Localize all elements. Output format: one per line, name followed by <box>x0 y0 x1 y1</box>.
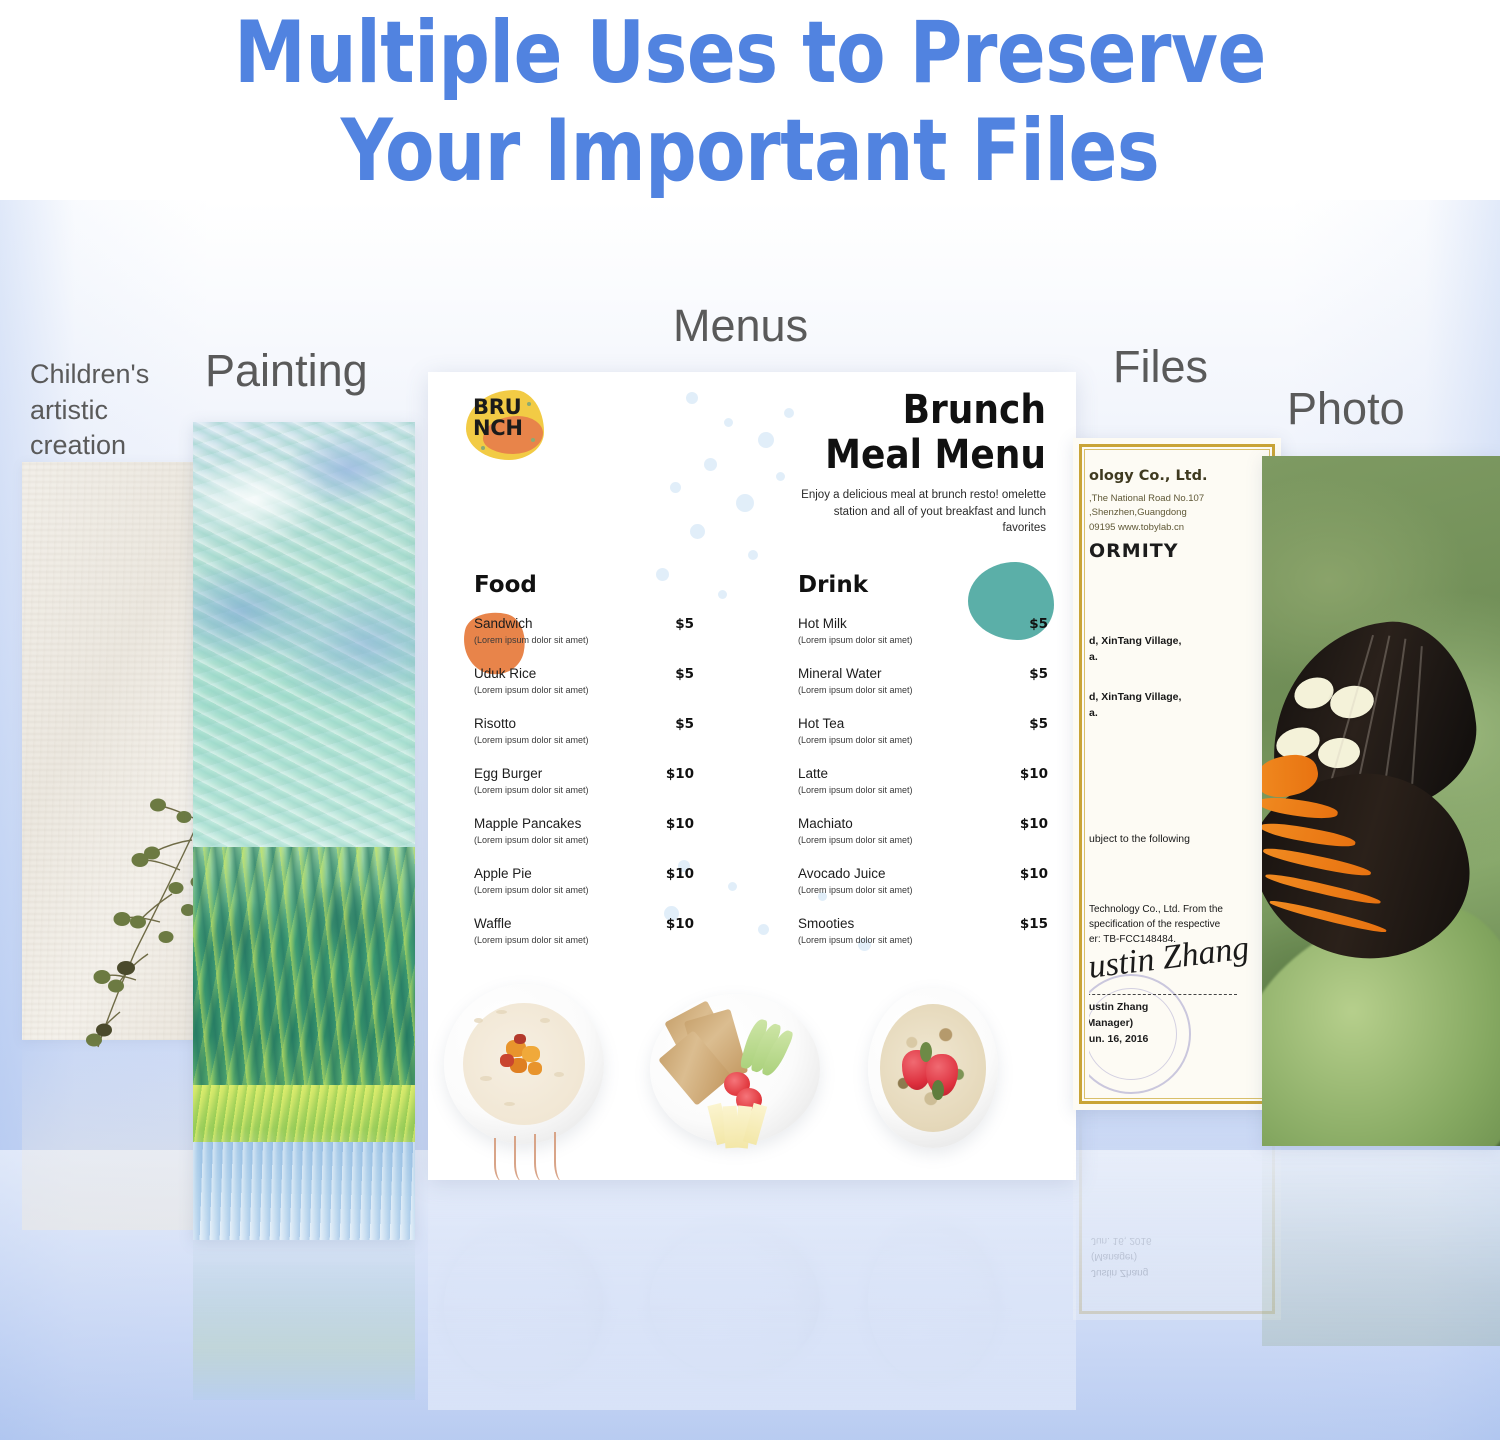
menu-item-name: Waffle <box>474 916 742 932</box>
menu-item-price: $5 <box>1029 666 1048 682</box>
painting-trees <box>193 847 415 1117</box>
food-photo-strip <box>428 972 1076 1180</box>
menu-item-name: Latte <box>798 766 1054 782</box>
menu-item-desc: (Lorem ipsum dolor sit amet) <box>474 635 742 645</box>
menu-item-desc: (Lorem ipsum dolor sit amet) <box>798 885 1054 895</box>
logo-speck <box>531 438 535 442</box>
menu-item-name: Risotto <box>474 716 742 732</box>
caption-painting: Painting <box>205 345 368 397</box>
butterfly-photo <box>1262 456 1500 1146</box>
menu-item-name: Mapple Pancakes <box>474 816 742 832</box>
menu-row: Machiato (Lorem ipsum dolor sit amet) $1… <box>798 816 1054 845</box>
menu-item-price: $5 <box>675 616 694 632</box>
menu-item-name: Avocado Juice <box>798 866 1054 882</box>
menu-item-name: Sandwich <box>474 616 742 632</box>
certificate-heading: ORMITY <box>1089 540 1265 562</box>
menu-row: Mapple Pancakes (Lorem ipsum dolor sit a… <box>474 816 742 845</box>
decorative-wire <box>514 1136 536 1180</box>
column-heading: Drink <box>798 572 1054 598</box>
menu-item-name: Uduk Rice <box>474 666 742 682</box>
menu-item-desc: (Lorem ipsum dolor sit amet) <box>798 785 1054 795</box>
brunch-logo: BRU NCH <box>461 386 549 466</box>
bubble-decoration <box>748 550 758 560</box>
menu-item-desc: (Lorem ipsum dolor sit amet) <box>798 935 1054 945</box>
menu-item-desc: (Lorem ipsum dolor sit amet) <box>474 785 742 795</box>
caption-menus: Menus <box>673 300 808 352</box>
menu-item-price: $5 <box>1029 616 1048 632</box>
brunch-menu-card: BRU NCH Brunch Meal Menu Enjoy a delicio… <box>428 372 1076 1180</box>
menu-item-name: Apple Pie <box>474 866 742 882</box>
butterfly-photo-reflection <box>1262 1146 1500 1346</box>
logo-text: BRU NCH <box>473 397 549 439</box>
menu-card-reflection <box>428 1180 1076 1410</box>
menu-item-name: Hot Milk <box>798 616 1054 632</box>
menu-item-price: $15 <box>1020 916 1048 932</box>
menu-row: Uduk Rice (Lorem ipsum dolor sit amet) $… <box>474 666 742 695</box>
menu-item-price: $5 <box>675 666 694 682</box>
certificate-line-1: d, XinTang Village, a. <box>1089 634 1265 666</box>
porridge-bowl-photo <box>444 984 604 1144</box>
menu-item-price: $10 <box>666 916 694 932</box>
page-title: Multiple Uses to Preserve Your Important… <box>53 0 1448 200</box>
certificate-company: ology Co., Ltd. <box>1089 468 1265 484</box>
menu-item-desc: (Lorem ipsum dolor sit amet) <box>798 685 1054 695</box>
decorative-wire <box>534 1134 556 1180</box>
menu-item-name: Mineral Water <box>798 666 1054 682</box>
menu-item-price: $10 <box>666 766 694 782</box>
logo-speck <box>481 446 485 450</box>
menu-item-desc: (Lorem ipsum dolor sit amet) <box>798 835 1054 845</box>
menu-item-price: $10 <box>1020 816 1048 832</box>
menu-item-price: $10 <box>1020 866 1048 882</box>
menu-item-price: $10 <box>666 816 694 832</box>
menu-row: Sandwich (Lorem ipsum dolor sit amet) $5 <box>474 616 742 645</box>
menu-row: Smooties (Lorem ipsum dolor sit amet) $1… <box>798 916 1054 945</box>
childrens-art-paper <box>22 462 217 1040</box>
certificate-of-conformity: ology Co., Ltd. ,The National Road No.10… <box>1073 438 1281 1110</box>
certificate-address: ,The National Road No.107 ,Shenzhen,Guan… <box>1089 492 1265 535</box>
bubble-decoration <box>776 472 785 481</box>
menu-item-name: Smooties <box>798 916 1054 932</box>
menu-item-price: $10 <box>1020 766 1048 782</box>
menu-item-desc: (Lorem ipsum dolor sit amet) <box>474 885 742 895</box>
certificate-body: ology Co., Ltd. ,The National Road No.10… <box>1089 454 1265 1094</box>
menu-row: Latte (Lorem ipsum dolor sit amet) $10 <box>798 766 1054 795</box>
menu-row: Mineral Water (Lorem ipsum dolor sit ame… <box>798 666 1054 695</box>
menu-subtitle: Enjoy a delicious meal at brunch resto! … <box>788 487 1046 537</box>
sandwich-plate-photo <box>650 994 820 1144</box>
column-heading: Food <box>474 572 742 598</box>
menu-row: Waffle (Lorem ipsum dolor sit amet) $10 <box>474 916 742 945</box>
certificate-signer-info: Justin Zhang (Manager) Jun. 16, 2016 <box>1089 1000 1263 1047</box>
menu-row: Risotto (Lorem ipsum dolor sit amet) $5 <box>474 716 742 745</box>
painting-sky <box>193 422 415 896</box>
menu-item-price: $5 <box>1029 716 1048 732</box>
menu-item-name: Egg Burger <box>474 766 742 782</box>
menu-title: Brunch Meal Menu <box>825 388 1046 478</box>
painting-water <box>193 1142 415 1240</box>
menu-item-desc: (Lorem ipsum dolor sit amet) <box>474 685 742 695</box>
childrens-art-paper-reflection <box>22 1040 217 1230</box>
bubble-decoration <box>686 392 698 404</box>
bubble-decoration <box>670 482 681 493</box>
bubble-decoration <box>784 408 794 418</box>
menu-item-desc: (Lorem ipsum dolor sit amet) <box>798 735 1054 745</box>
decorative-wire <box>554 1132 576 1180</box>
bubble-decoration <box>758 924 769 935</box>
menu-item-name: Hot Tea <box>798 716 1054 732</box>
caption-children-artistic-creation: Children's artistic creation <box>30 357 205 464</box>
caption-photo: Photo <box>1287 383 1405 435</box>
poster-stage: Multiple Uses to Preserve Your Important… <box>0 0 1500 1440</box>
menu-item-desc: (Lorem ipsum dolor sit amet) <box>474 935 742 945</box>
certificate-line-2: d, XinTang Village, a. <box>1089 690 1265 722</box>
menu-row: Egg Burger (Lorem ipsum dolor sit amet) … <box>474 766 742 795</box>
painting-reflection <box>193 1240 415 1400</box>
certificate-line-3: ubject to the following <box>1089 832 1265 848</box>
menu-item-desc: (Lorem ipsum dolor sit amet) <box>798 635 1054 645</box>
muesli-bowl-photo <box>868 988 998 1148</box>
menu-row: Hot Tea (Lorem ipsum dolor sit amet) $5 <box>798 716 1054 745</box>
menu-item-price: $5 <box>675 716 694 732</box>
bubble-decoration <box>704 458 717 471</box>
caption-files: Files <box>1113 341 1208 393</box>
painting-canvas <box>193 422 415 1240</box>
menu-item-price: $10 <box>666 866 694 882</box>
menu-row: Hot Milk (Lorem ipsum dolor sit amet) $5 <box>798 616 1054 645</box>
menu-row: Apple Pie (Lorem ipsum dolor sit amet) $… <box>474 866 742 895</box>
menu-item-desc: (Lorem ipsum dolor sit amet) <box>474 735 742 745</box>
menu-item-name: Machiato <box>798 816 1054 832</box>
bubble-decoration <box>724 418 733 427</box>
bubble-decoration <box>758 432 774 448</box>
menu-column-food: Food Sandwich (Lorem ipsum dolor sit ame… <box>474 572 742 966</box>
signature-rule <box>1089 994 1237 995</box>
bubble-decoration <box>736 494 754 512</box>
certificate-reflection: Justin Zhang (Manager) Jun. 16, 2016 <box>1073 1110 1281 1320</box>
menu-row: Avocado Juice (Lorem ipsum dolor sit ame… <box>798 866 1054 895</box>
menu-column-drink: Drink Hot Milk (Lorem ipsum dolor sit am… <box>798 572 1054 966</box>
decorative-wire <box>494 1138 516 1180</box>
bubble-decoration <box>690 524 705 539</box>
menu-item-desc: (Lorem ipsum dolor sit amet) <box>474 835 742 845</box>
